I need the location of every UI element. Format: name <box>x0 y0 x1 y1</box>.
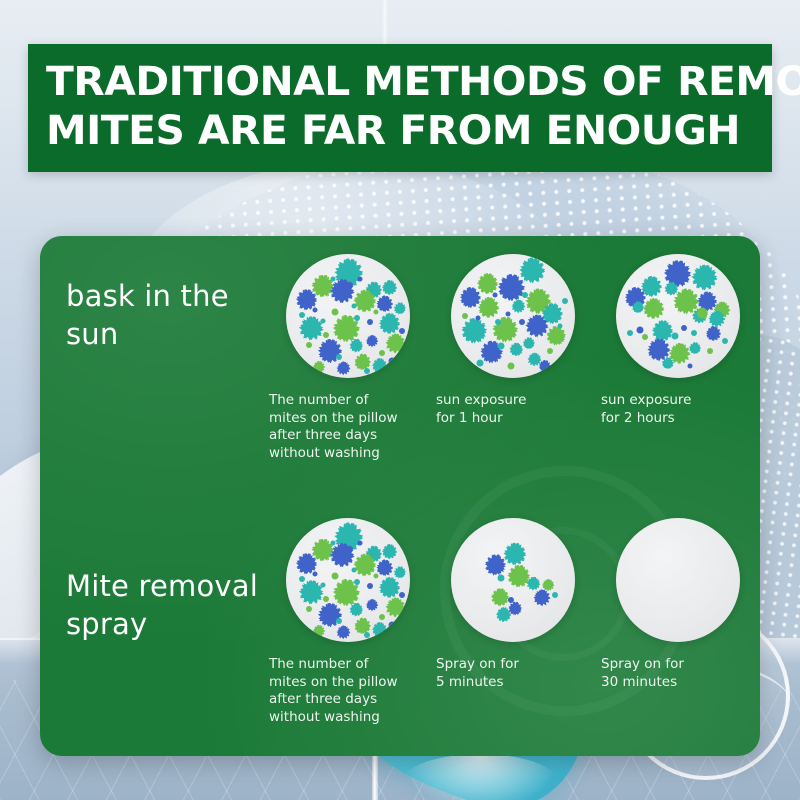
petri-dish-spray-baseline <box>286 518 410 642</box>
mite-dot <box>549 329 562 342</box>
mite-dot <box>494 591 506 603</box>
mite-dot <box>323 596 329 602</box>
mite-dot <box>304 584 320 600</box>
mite-dot <box>514 302 523 311</box>
caption-spray-30-minutes: Spray on for 30 minutes <box>601 656 757 691</box>
mite-dot <box>495 319 501 325</box>
mite-dot <box>379 562 390 573</box>
cell-spray-5-minutes: Spray on for 5 minutes <box>430 518 595 726</box>
mite-dot <box>337 319 355 337</box>
mite-dot <box>541 362 549 370</box>
mite-dot <box>385 282 395 292</box>
mite-dot <box>304 320 320 336</box>
mite-dot <box>339 628 348 637</box>
infographic-canvas: TRADITIONAL METHODS OF REMOVING MITES AR… <box>0 0 800 800</box>
row-2-cells: The number of mites on the pillow after … <box>265 518 760 726</box>
mite-dot <box>627 330 633 336</box>
mite-dot <box>511 569 526 584</box>
mite-dot <box>347 282 353 288</box>
mite-dot <box>351 568 356 573</box>
mite-dot <box>367 319 373 325</box>
mite-dot <box>315 363 323 371</box>
mite-dot <box>330 540 335 545</box>
mite-dot <box>357 540 362 545</box>
mite-dot <box>354 579 360 585</box>
mite-dot <box>644 279 658 293</box>
row-1-cells: The number of mites on the pillow after … <box>265 254 760 462</box>
mite-dot <box>332 573 339 580</box>
mite-dot <box>712 313 723 324</box>
petri-dish-sun-baseline <box>286 254 410 378</box>
mite-dot <box>537 592 548 603</box>
mite-dot <box>673 346 687 360</box>
cell-sun-1-hour: sun exposure for 1 hour <box>430 254 595 462</box>
mite-dot <box>352 605 361 614</box>
petri-dish-spray-30-minutes <box>616 518 740 642</box>
mite-dot <box>347 546 353 552</box>
mite-dot <box>678 293 695 310</box>
mite-dot <box>385 546 395 556</box>
title-banner: TRADITIONAL METHODS OF REMOVING MITES AR… <box>28 44 772 172</box>
mite-dot <box>375 625 385 635</box>
mite-dot <box>519 319 525 325</box>
mite-dot <box>357 294 372 309</box>
mite-dot <box>300 557 314 571</box>
mite-dot <box>530 293 547 310</box>
mite-dot <box>691 344 699 352</box>
title-line-1: TRADITIONAL METHODS OF REMOVING <box>46 58 768 107</box>
mite-dot <box>547 348 553 354</box>
mite-dot <box>642 334 648 340</box>
mite-dot <box>330 276 335 281</box>
mite-dot <box>299 312 305 318</box>
petri-dish-sun-1-hour <box>451 254 575 378</box>
mite-dot <box>332 309 339 316</box>
mite-dot <box>299 576 305 582</box>
mite-dot <box>357 558 372 573</box>
mite-dot <box>552 592 558 598</box>
mite-dot <box>529 579 538 588</box>
cell-spray-baseline: The number of mites on the pillow after … <box>265 518 430 726</box>
mite-dot <box>669 265 687 283</box>
mite-dot <box>368 337 376 345</box>
mite-dot <box>374 310 379 315</box>
mite-dot <box>399 592 405 598</box>
mite-dot <box>389 601 402 614</box>
petri-dish-spray-5-minutes <box>451 518 575 642</box>
mite-dot <box>651 342 666 357</box>
mite-dot <box>339 364 348 373</box>
mite-dot <box>315 543 330 558</box>
mite-dot <box>498 342 505 349</box>
mite-dot <box>306 606 312 612</box>
cell-spray-30-minutes: Spray on for 30 minutes <box>595 518 760 726</box>
mite-dot <box>357 620 368 631</box>
mite-dot <box>336 618 342 624</box>
mite-dot <box>466 322 483 339</box>
mite-dot <box>375 361 385 371</box>
mite-dot <box>364 368 370 374</box>
mite-dot <box>383 316 397 330</box>
mite-dot <box>522 292 528 298</box>
mite-dot <box>525 339 533 347</box>
mite-dot <box>313 307 318 312</box>
mite-dot <box>367 583 373 589</box>
mite-dot <box>647 302 661 316</box>
mite-dot <box>530 355 539 364</box>
mite-dot <box>477 360 484 367</box>
mite-dot <box>508 597 514 603</box>
mite-dot <box>708 328 718 338</box>
mite-dot <box>505 311 510 316</box>
row-mite-removal-spray: Mite removal spray The number of mites o… <box>40 498 760 756</box>
mite-dot <box>493 292 498 297</box>
caption-spray-5-minutes: Spray on for 5 minutes <box>436 656 592 691</box>
mite-dot <box>396 569 404 577</box>
mite-dot <box>691 330 697 336</box>
mite-dot <box>557 323 562 328</box>
mite-dot <box>336 354 342 360</box>
mite-dot <box>696 269 713 286</box>
caption-sun-1-hour: sun exposure for 1 hour <box>436 392 592 427</box>
mite-dot <box>389 337 402 350</box>
mite-dot <box>313 571 318 576</box>
row-label-mite-removal-spray: Mite removal spray <box>66 568 281 643</box>
mite-dot <box>320 582 325 587</box>
mite-dot <box>352 341 361 350</box>
mite-dot <box>484 344 499 359</box>
mite-dot <box>379 298 390 309</box>
caption-sun-2-hours: sun exposure for 2 hours <box>601 392 757 427</box>
caption-sun-baseline: The number of mites on the pillow after … <box>269 392 425 462</box>
mite-dot <box>672 332 679 339</box>
mite-dot <box>508 362 515 369</box>
cell-sun-2-hours: sun exposure for 2 hours <box>595 254 760 462</box>
mite-dot <box>634 303 642 311</box>
mite-dot <box>698 310 706 318</box>
mite-dot <box>530 318 545 333</box>
mite-dot <box>498 574 505 581</box>
mite-dot <box>667 284 676 293</box>
comparison-panel: bask in the sun The number of mites on t… <box>40 236 760 756</box>
cell-sun-baseline: The number of mites on the pillow after … <box>265 254 430 462</box>
mite-dot <box>687 363 692 368</box>
mite-dot <box>354 315 360 321</box>
mite-dot <box>351 304 356 309</box>
mite-dot <box>512 345 521 354</box>
mite-dot <box>656 324 670 338</box>
mite-dot <box>488 558 502 572</box>
mite-dot <box>462 313 468 319</box>
mite-dot <box>475 316 480 321</box>
mite-dot <box>364 632 370 638</box>
mite-dot <box>482 300 496 314</box>
mite-dot <box>502 278 520 296</box>
mite-dot <box>383 580 397 594</box>
mite-dot <box>524 262 541 279</box>
petri-dish-sun-2-hours <box>616 254 740 378</box>
mite-dot <box>544 581 552 589</box>
mite-dot <box>357 276 362 281</box>
row-label-bask-in-the-sun: bask in the sun <box>66 278 281 353</box>
mite-dot <box>300 293 314 307</box>
mite-dot <box>389 621 396 628</box>
mite-dot <box>463 290 477 304</box>
mite-dot <box>357 356 368 367</box>
mite-dot <box>507 546 522 561</box>
mite-dot <box>481 277 495 291</box>
mite-dot <box>510 604 519 613</box>
mite-dot <box>379 350 385 356</box>
caption-spray-baseline: The number of mites on the pillow after … <box>269 656 425 726</box>
title-line-2: MITES ARE FAR FROM ENOUGH <box>46 107 768 156</box>
mite-dot <box>389 357 396 364</box>
mite-dot <box>396 305 404 313</box>
mite-dot <box>323 332 329 338</box>
mite-dot <box>368 601 376 609</box>
mite-dot <box>681 325 687 331</box>
mite-dot <box>707 348 713 354</box>
mite-dot <box>374 574 379 579</box>
mite-dot <box>637 326 644 333</box>
mite-dot <box>545 307 559 321</box>
mite-dot <box>320 318 325 323</box>
mite-dot <box>562 298 568 304</box>
mite-dot <box>306 342 312 348</box>
mite-dot <box>499 610 509 620</box>
mite-dot <box>664 359 672 367</box>
row-bask-in-the-sun: bask in the sun The number of mites on t… <box>40 236 760 498</box>
mite-dot <box>315 279 330 294</box>
mite-dot <box>315 627 323 635</box>
mite-dot <box>701 295 714 308</box>
mite-dot <box>399 328 405 334</box>
mite-dot <box>337 583 355 601</box>
mite-dot <box>379 614 385 620</box>
mite-dot <box>722 338 728 344</box>
